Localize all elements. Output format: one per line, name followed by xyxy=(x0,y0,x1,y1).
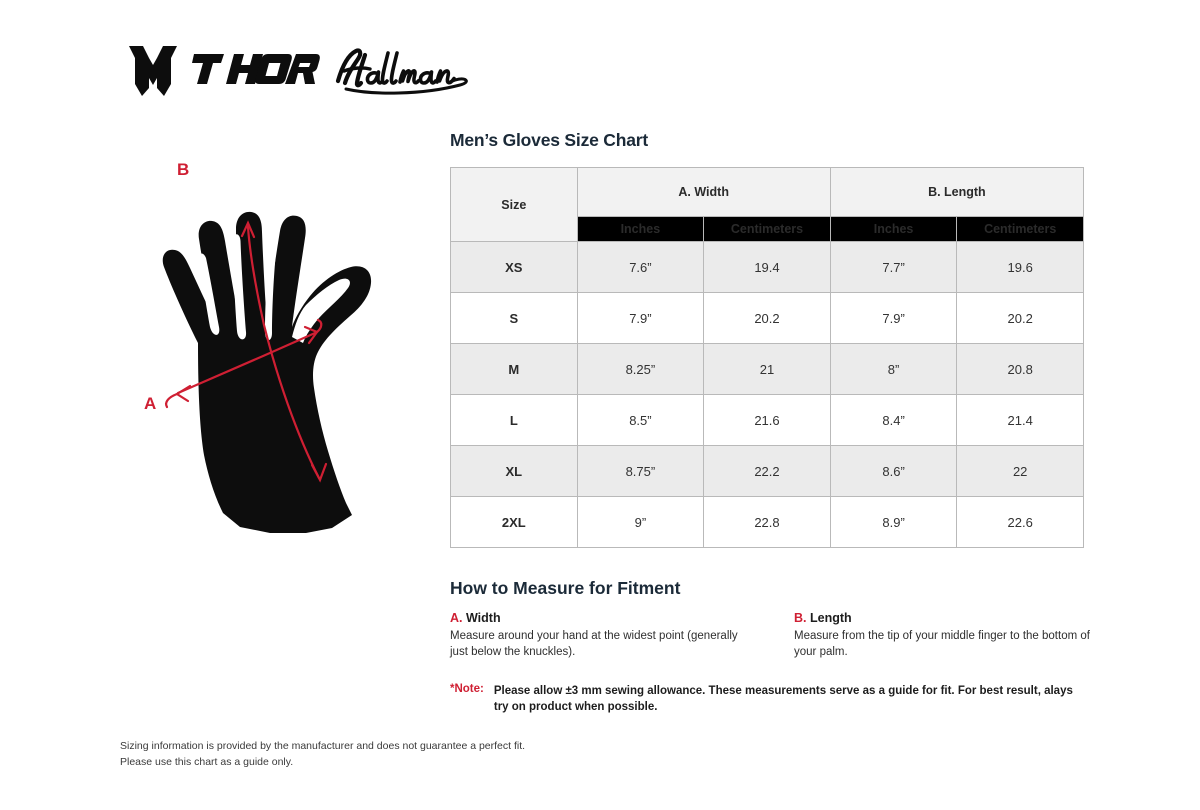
cell-width-inches: 8.5” xyxy=(577,395,704,446)
table-row: S 7.9” 20.2 7.9” 20.2 xyxy=(451,293,1084,344)
cell-length-inches: 7.7” xyxy=(830,242,957,293)
glove-measurement-diagram: B A xyxy=(120,155,430,565)
column-header-width-centimeters: Centimeters xyxy=(704,217,831,242)
note-section: *Note: Please allow ±3 mm sewing allowan… xyxy=(450,683,1090,716)
measure-item-heading: A. Width xyxy=(450,611,746,625)
hallman-wordmark xyxy=(332,44,482,98)
cell-size: XS xyxy=(451,242,578,293)
cell-length-inches: 8” xyxy=(830,344,957,395)
table-row: L 8.5” 21.6 8.4” 21.4 xyxy=(451,395,1084,446)
how-to-measure-section: How to Measure for Fitment A. Width Meas… xyxy=(450,578,1090,661)
cell-size: M xyxy=(451,344,578,395)
measure-item-length: B. Length Measure from the tip of your m… xyxy=(794,611,1090,661)
measure-description-width: Measure around your hand at the widest p… xyxy=(450,628,746,661)
measure-description-length: Measure from the tip of your middle fing… xyxy=(794,628,1090,661)
note-label: *Note: xyxy=(450,683,494,695)
measure-item-width: A. Width Measure around your hand at the… xyxy=(450,611,746,661)
cell-length-centimeters: 21.4 xyxy=(957,395,1084,446)
table-row: XS 7.6” 19.4 7.7” 19.6 xyxy=(451,242,1084,293)
cell-size: S xyxy=(451,293,578,344)
size-chart-content: Men’s Gloves Size Chart Size A. Width B.… xyxy=(450,130,1090,716)
cell-length-inches: 8.9” xyxy=(830,497,957,548)
cell-width-centimeters: 21.6 xyxy=(704,395,831,446)
column-header-length-centimeters: Centimeters xyxy=(957,217,1084,242)
cell-size: 2XL xyxy=(451,497,578,548)
cell-size: XL xyxy=(451,446,578,497)
glove-silhouette xyxy=(163,212,371,533)
measure-marker-b: B. xyxy=(794,611,807,625)
size-chart-table: Size A. Width B. Length Inches Centimete… xyxy=(450,167,1084,548)
disclaimer-line-2: Please use this chart as a guide only. xyxy=(120,754,525,770)
cell-width-inches: 7.6” xyxy=(577,242,704,293)
cell-size: L xyxy=(451,395,578,446)
cell-width-inches: 8.25” xyxy=(577,344,704,395)
cell-width-centimeters: 20.2 xyxy=(704,293,831,344)
table-header: Size A. Width B. Length Inches Centimete… xyxy=(451,168,1084,242)
table-body: XS 7.6” 19.4 7.7” 19.6 S 7.9” 20.2 7.9” … xyxy=(451,242,1084,548)
table-row: 2XL 9” 22.8 8.9” 22.6 xyxy=(451,497,1084,548)
cell-length-centimeters: 22.6 xyxy=(957,497,1084,548)
how-to-measure-title: How to Measure for Fitment xyxy=(450,578,1090,599)
cell-length-inches: 7.9” xyxy=(830,293,957,344)
cell-length-centimeters: 20.8 xyxy=(957,344,1084,395)
thor-emblem-icon xyxy=(128,44,178,96)
table-row: XL 8.75” 22.2 8.6” 22 xyxy=(451,446,1084,497)
column-header-length-inches: Inches xyxy=(830,217,957,242)
note-text: Please allow ±3 mm sewing allowance. The… xyxy=(494,683,1084,716)
disclaimer-line-1: Sizing information is provided by the ma… xyxy=(120,738,525,754)
measure-marker-a: A. xyxy=(450,611,463,625)
label-a: A xyxy=(144,394,156,413)
table-row: M 8.25” 21 8” 20.8 xyxy=(451,344,1084,395)
cell-length-inches: 8.4” xyxy=(830,395,957,446)
measure-name-width: Width xyxy=(466,611,501,625)
column-group-width: A. Width xyxy=(577,168,830,217)
cell-width-centimeters: 21 xyxy=(704,344,831,395)
cell-length-centimeters: 22 xyxy=(957,446,1084,497)
column-header-width-inches: Inches xyxy=(577,217,704,242)
column-group-length: B. Length xyxy=(830,168,1083,217)
cell-width-inches: 7.9” xyxy=(577,293,704,344)
cell-width-centimeters: 22.2 xyxy=(704,446,831,497)
cell-width-inches: 8.75” xyxy=(577,446,704,497)
disclaimer-footer: Sizing information is provided by the ma… xyxy=(120,738,525,771)
brand-logo-bar xyxy=(120,40,520,102)
measure-item-heading: B. Length xyxy=(794,611,1090,625)
cell-width-centimeters: 19.4 xyxy=(704,242,831,293)
cell-length-centimeters: 19.6 xyxy=(957,242,1084,293)
label-b: B xyxy=(177,160,189,179)
thor-wordmark xyxy=(192,48,320,90)
page-title: Men’s Gloves Size Chart xyxy=(450,130,1090,151)
cell-width-inches: 9” xyxy=(577,497,704,548)
measure-name-length: Length xyxy=(810,611,852,625)
cell-width-centimeters: 22.8 xyxy=(704,497,831,548)
cell-length-centimeters: 20.2 xyxy=(957,293,1084,344)
column-header-size: Size xyxy=(451,168,578,242)
cell-length-inches: 8.6” xyxy=(830,446,957,497)
